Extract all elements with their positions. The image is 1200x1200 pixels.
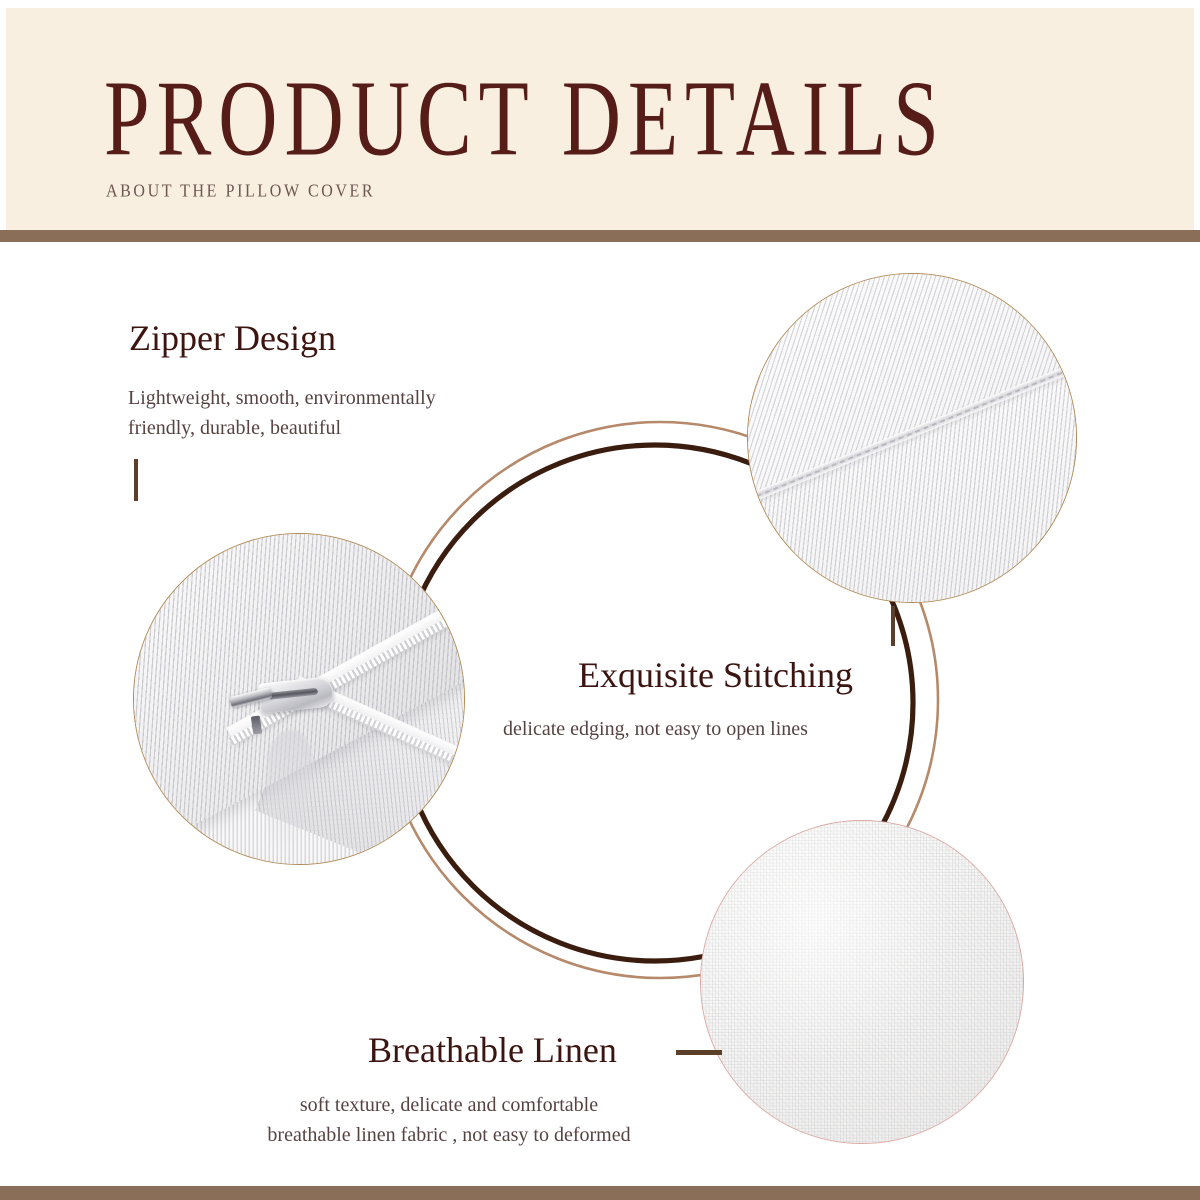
zipper-connector-tick xyxy=(134,459,138,501)
linen-feature-heading: Breathable Linen xyxy=(368,1030,617,1070)
zipper-body-line-2: friendly, durable, beautiful xyxy=(128,413,436,443)
page-title: PRODUCT DETAILS xyxy=(104,62,1114,176)
linen-sheen-overlay xyxy=(701,821,1023,1143)
stitching-feature-heading: Exquisite Stitching xyxy=(578,655,853,695)
zipper-body-line-1: Lightweight, smooth, environmentally xyxy=(128,383,436,413)
linen-body-line-1: soft texture, delicate and comfortable xyxy=(227,1090,671,1120)
stitching-photo-circle xyxy=(747,273,1077,603)
zipper-photo-circle xyxy=(133,533,465,865)
linen-connector-dash xyxy=(676,1050,722,1055)
stitching-feature-body: delicate edging, not easy to open lines xyxy=(503,714,808,744)
linen-feature-body: soft texture, delicate and comfortable b… xyxy=(227,1090,671,1150)
product-details-infographic: PRODUCT DETAILS ABOUT THE PILLOW COVER Z… xyxy=(0,0,1200,1200)
footer-divider-rule xyxy=(0,1186,1200,1200)
header-divider-rule xyxy=(0,230,1200,242)
zipper-feature-body: Lightweight, smooth, environmentally fri… xyxy=(128,383,436,443)
stitching-connector-tick xyxy=(891,606,895,646)
linen-photo-circle xyxy=(700,820,1024,1144)
page-subtitle: ABOUT THE PILLOW COVER xyxy=(106,182,375,202)
zipper-feature-heading: Zipper Design xyxy=(129,318,336,358)
stitching-body-line-1: delicate edging, not easy to open lines xyxy=(503,714,808,744)
linen-body-line-2: breathable linen fabric , not easy to de… xyxy=(227,1120,671,1150)
